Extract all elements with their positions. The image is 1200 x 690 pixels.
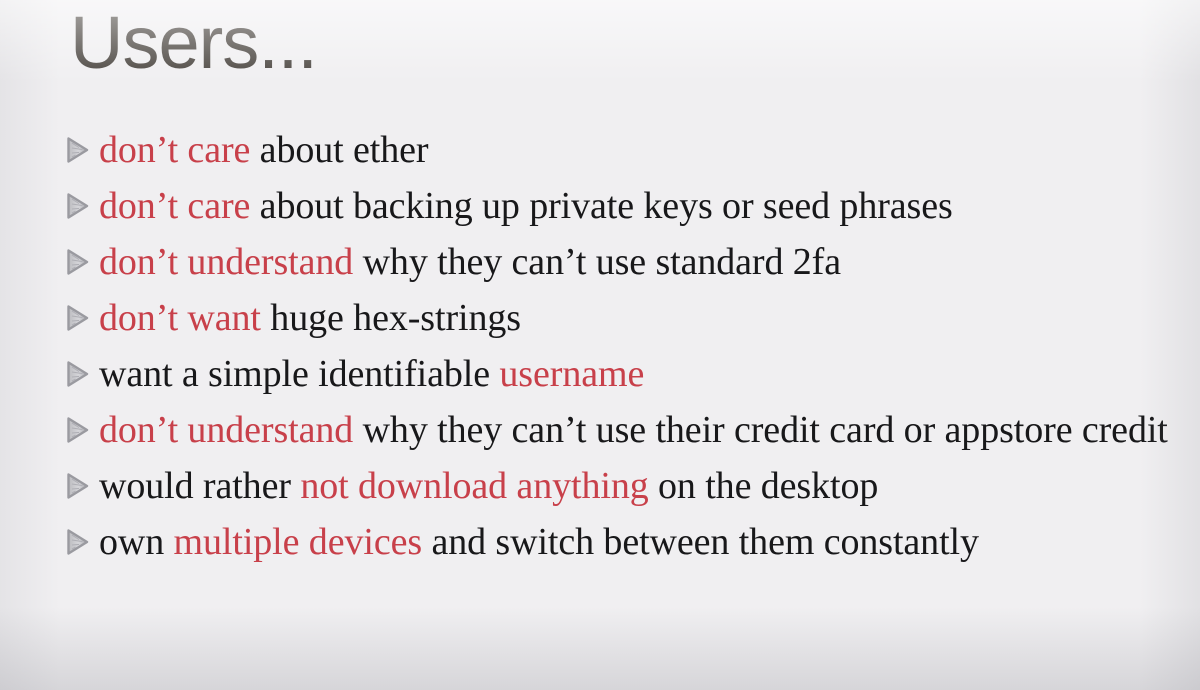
plain-phrase: about backing up private keys or seed ph… (250, 185, 952, 227)
triangle-right-icon (66, 193, 89, 219)
plain-phrase: why they can’t use standard 2fa (353, 241, 841, 283)
triangle-right-icon (66, 249, 89, 275)
highlighted-phrase: don’t care (99, 185, 250, 227)
list-item-text: don’t want huge hex-strings (99, 297, 521, 339)
triangle-right-icon (66, 417, 89, 443)
list-item: don’t want huge hex-strings (64, 290, 1184, 346)
list-item: want a simple identifiable username (64, 346, 1184, 402)
highlighted-phrase: username (499, 353, 644, 395)
highlighted-phrase: multiple devices (174, 521, 423, 563)
triangle-right-icon (66, 305, 89, 331)
triangle-right-icon (66, 529, 89, 555)
page-title: Users... (70, 4, 317, 82)
plain-phrase: and switch between them constantly (422, 521, 979, 563)
highlighted-phrase: don’t understand (99, 241, 353, 283)
plain-phrase: about ether (250, 129, 428, 171)
list-item-text: want a simple identifiable username (99, 353, 644, 395)
list-item: don’t understand why they can’t use stan… (64, 234, 1184, 290)
list-item-text: don’t care about ether (99, 129, 428, 171)
highlighted-phrase: don’t care (99, 129, 250, 171)
plain-phrase: huge hex-strings (261, 297, 521, 339)
list-item-text: own multiple devices and switch between … (99, 521, 979, 563)
plain-phrase: want a simple identifiable (99, 353, 499, 395)
list-item-text: don’t care about backing up private keys… (99, 185, 953, 227)
plain-phrase: on the desktop (649, 465, 879, 507)
highlighted-phrase: don’t want (99, 297, 261, 339)
list-item-text: don’t understand why they can’t use stan… (99, 241, 841, 283)
plain-phrase: why they can’t use their credit card or … (353, 409, 1168, 451)
plain-phrase: would rather (99, 465, 300, 507)
highlighted-phrase: don’t understand (99, 409, 353, 451)
list-item-text: would rather not download anything on th… (99, 465, 878, 507)
triangle-right-icon (66, 473, 89, 499)
list-item: own multiple devices and switch between … (64, 514, 1184, 570)
highlighted-phrase: not download anything (300, 465, 648, 507)
triangle-right-icon (66, 361, 89, 387)
presentation-slide: Users... don’t care about etherdon’t car… (0, 0, 1200, 690)
list-item: don’t understand why they can’t use thei… (64, 402, 1184, 458)
bullet-list: don’t care about etherdon’t care about b… (64, 122, 1184, 570)
list-item-text: don’t understand why they can’t use thei… (99, 409, 1168, 451)
plain-phrase: own (99, 521, 174, 563)
list-item: would rather not download anything on th… (64, 458, 1184, 514)
list-item: don’t care about backing up private keys… (64, 178, 1184, 234)
list-item: don’t care about ether (64, 122, 1184, 178)
triangle-right-icon (66, 137, 89, 163)
